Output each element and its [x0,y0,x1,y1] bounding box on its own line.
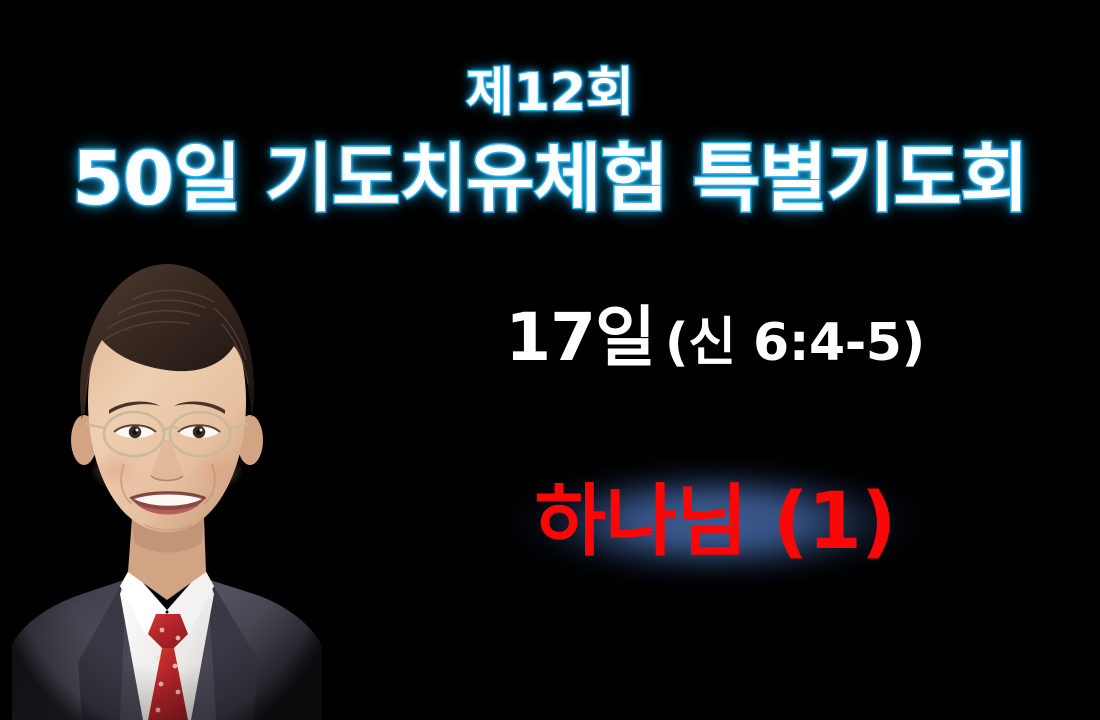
speaker-portrait [8,242,326,720]
topic-title: 하나님 (1) [534,483,895,561]
page-title: 50일 기도치유체험 특별기도회 [0,140,1100,220]
presentation-slide: 제12회 50일 기도치유체험 특별기도회 17일(신 6:4-5) 하나님 (… [0,0,1100,720]
topic-line: 하나님 (1) [330,452,1100,592]
date-line: 17일(신 6:4-5) [330,305,1100,371]
scripture-reference: (신 6:4-5) [665,313,925,373]
event-number: 제12회 [0,66,1100,121]
topic-glow-halo [505,462,925,582]
day-label: 17일 [505,299,655,376]
